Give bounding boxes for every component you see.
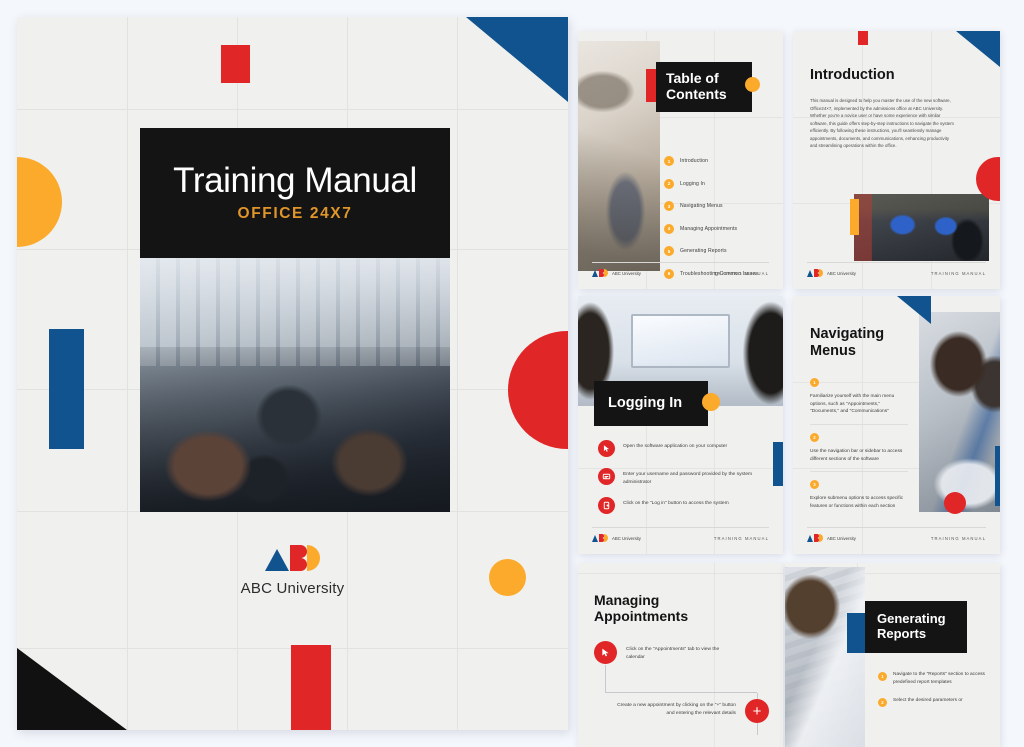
decor-blue-rectangle bbox=[773, 442, 783, 486]
numbered-item[interactable]: 2 Use the navigation bar or sidebar to a… bbox=[810, 433, 908, 472]
abc-logo-icon bbox=[807, 269, 823, 277]
numbered-item[interactable]: 1 Familiarize yourself with the main men… bbox=[810, 378, 908, 425]
cover-title-band: Training Manual OFFICE 24X7 bbox=[140, 128, 450, 258]
numbered-item-text: Familiarize yourself with the main menu … bbox=[810, 393, 908, 416]
toc-item-label: Logging In bbox=[680, 181, 705, 187]
plus-icon[interactable]: + bbox=[745, 699, 769, 723]
decor-blue-rectangle bbox=[995, 446, 1000, 506]
managing-appointments-title: Managing Appointments bbox=[594, 593, 688, 625]
page-logging-in[interactable]: Logging In Open the software application… bbox=[578, 296, 783, 554]
logo-a-triangle bbox=[265, 549, 289, 571]
toc-item-label: Introduction bbox=[680, 158, 708, 164]
grid-line bbox=[457, 17, 458, 730]
cover-title: Training Manual bbox=[173, 163, 417, 198]
page-managing-appointments[interactable]: Managing Appointments Click on the "Appo… bbox=[578, 563, 783, 747]
flow-arrow bbox=[757, 723, 758, 735]
footer-doc-label: TRAINING MANUAL bbox=[714, 271, 769, 276]
logging-in-steps: Open the software application on your co… bbox=[598, 440, 758, 525]
logo-b-shape bbox=[599, 534, 604, 542]
numbered-item-text: Explore submenu options to access specif… bbox=[810, 495, 908, 510]
toc-item[interactable]: 5 Generating Reports bbox=[664, 246, 776, 256]
logo-c-arc bbox=[604, 269, 608, 277]
toc-item-number: 2 bbox=[664, 179, 674, 189]
credentials-card-icon bbox=[598, 468, 615, 485]
decor-red-rectangle-top bbox=[858, 31, 868, 45]
page-introduction[interactable]: Introduction This manual is designed to … bbox=[793, 31, 1000, 289]
page-navigating-menus[interactable]: Navigating Menus 1 Familiarize yourself … bbox=[793, 296, 1000, 554]
step-item[interactable]: Enter your username and password provide… bbox=[598, 468, 758, 486]
toc-item[interactable]: 3 Navigating Menus bbox=[664, 201, 776, 211]
decor-red-half-circle-right bbox=[508, 331, 568, 449]
decor-orange-dot bbox=[702, 393, 720, 411]
numbered-item-badge: 2 bbox=[810, 433, 819, 442]
step-item[interactable]: Open the software application on your co… bbox=[598, 440, 758, 457]
generating-reports-title-band: Generating Reports bbox=[865, 601, 967, 653]
generating-reports-photo-student-writing bbox=[785, 567, 865, 747]
toc-item-label: Generating Reports bbox=[680, 248, 727, 254]
bullet-item[interactable]: 2 Select the desired parameters or bbox=[878, 697, 990, 707]
cover-university-name: ABC University bbox=[241, 580, 345, 597]
decor-blue-rectangle bbox=[847, 613, 865, 653]
footer-university: ABC University bbox=[827, 536, 856, 541]
step-text: Click on the "Log in" button to access t… bbox=[623, 497, 729, 508]
toc-item-number: 1 bbox=[664, 156, 674, 166]
navigating-menus-photo-students bbox=[919, 312, 1000, 512]
grid-line bbox=[578, 573, 783, 574]
decor-black-triangle-bottom bbox=[17, 648, 127, 730]
cover-photo-team-meeting bbox=[140, 246, 450, 512]
grid-line bbox=[127, 17, 128, 730]
logo-a-triangle bbox=[592, 535, 598, 542]
flow-step-text: Create a new appointment by clicking on … bbox=[616, 699, 736, 717]
cover-subtitle: OFFICE 24X7 bbox=[238, 205, 353, 223]
toc-item-label: Navigating Menus bbox=[680, 203, 723, 209]
appointments-flow: Click on the "Appointments" tab to view … bbox=[594, 641, 769, 731]
footer-doc-label: TRAINING MANUAL bbox=[931, 271, 986, 276]
decor-red-rectangle-bottom bbox=[291, 645, 331, 730]
grid-line bbox=[17, 109, 568, 110]
logo-b-shape bbox=[814, 269, 819, 277]
toc-item-number: 4 bbox=[664, 224, 674, 234]
footer-branding: ABC University bbox=[592, 534, 641, 542]
navigating-menus-title: Navigating Menus bbox=[810, 326, 884, 359]
toc-title: Table of Contents bbox=[666, 71, 727, 103]
cursor-click-icon bbox=[594, 641, 617, 664]
toc-item-number: 5 bbox=[664, 246, 674, 256]
logo-c-arc bbox=[307, 545, 320, 571]
numbered-item-badge: 1 bbox=[810, 378, 819, 387]
page-footer: ABC University TRAINING MANUAL bbox=[592, 262, 769, 277]
toc-item[interactable]: 2 Logging In bbox=[664, 179, 776, 189]
footer-university: ABC University bbox=[612, 271, 641, 276]
page-footer: ABC University TRAINING MANUAL bbox=[592, 527, 769, 542]
logo-a-triangle bbox=[592, 270, 598, 277]
step-item[interactable]: Click on the "Log in" button to access t… bbox=[598, 497, 758, 514]
logo-c-arc bbox=[819, 534, 823, 542]
footer-doc-label: TRAINING MANUAL bbox=[714, 536, 769, 541]
footer-doc-label: TRAINING MANUAL bbox=[931, 536, 986, 541]
bullet-item-badge: 1 bbox=[878, 672, 887, 681]
decor-red-rectangle-top bbox=[221, 45, 250, 83]
logging-in-title: Logging In bbox=[608, 395, 682, 411]
generating-reports-list: 1 Navigate to the "Reports" section to a… bbox=[878, 671, 990, 718]
page-table-of-contents[interactable]: Table of Contents 1 Introduction 2 Loggi… bbox=[578, 31, 783, 289]
decor-orange-rectangle bbox=[850, 199, 859, 235]
cover-branding: ABC University bbox=[17, 545, 568, 597]
footer-branding: ABC University bbox=[592, 269, 641, 277]
toc-item-label: Managing Appointments bbox=[680, 226, 737, 232]
toc-item[interactable]: 4 Managing Appointments bbox=[664, 224, 776, 234]
decor-blue-corner-triangle bbox=[956, 31, 1000, 67]
logo-c-arc bbox=[819, 269, 823, 277]
footer-branding: ABC University bbox=[807, 534, 856, 542]
abc-logo-icon bbox=[265, 545, 320, 571]
decor-red-circle bbox=[944, 492, 966, 514]
flow-connector bbox=[605, 665, 757, 693]
logo-c-arc bbox=[604, 534, 608, 542]
logo-b-shape bbox=[814, 534, 819, 542]
introduction-title: Introduction bbox=[810, 67, 895, 84]
step-text: Enter your username and password provide… bbox=[623, 468, 758, 486]
abc-logo-icon bbox=[592, 534, 608, 542]
introduction-photo-office-desks bbox=[854, 194, 989, 261]
bullet-item-text: Navigate to the "Reports" section to acc… bbox=[893, 671, 990, 686]
logo-a-triangle bbox=[807, 535, 813, 542]
numbered-item-badge: 3 bbox=[810, 480, 819, 489]
flow-step-text: Click on the "Appointments" tab to view … bbox=[626, 643, 736, 661]
footer-university: ABC University bbox=[612, 536, 641, 541]
footer-university: ABC University bbox=[827, 271, 856, 276]
logo-a-triangle bbox=[807, 270, 813, 277]
logo-b-shape bbox=[599, 269, 604, 277]
decor-blue-rectangle-left bbox=[49, 329, 84, 449]
bullet-item-badge: 2 bbox=[878, 698, 887, 707]
page-footer: ABC University TRAINING MANUAL bbox=[807, 527, 986, 542]
footer-branding: ABC University bbox=[807, 269, 856, 277]
step-text: Open the software application on your co… bbox=[623, 440, 727, 451]
logging-in-title-band: Logging In bbox=[594, 381, 708, 426]
page-footer: ABC University TRAINING MANUAL bbox=[807, 262, 986, 277]
decor-blue-corner-triangle bbox=[466, 17, 568, 102]
abc-logo-icon bbox=[807, 534, 823, 542]
cursor-click-icon bbox=[598, 440, 615, 457]
toc-item-number: 3 bbox=[664, 201, 674, 211]
numbered-item-text: Use the navigation bar or sidebar to acc… bbox=[810, 448, 908, 463]
decor-blue-corner-triangle bbox=[897, 296, 931, 324]
toc-item[interactable]: 1 Introduction bbox=[664, 156, 776, 166]
login-door-icon bbox=[598, 497, 615, 514]
bullet-item[interactable]: 1 Navigate to the "Reports" section to a… bbox=[878, 671, 990, 686]
navigating-menus-list: 1 Familiarize yourself with the main men… bbox=[810, 378, 908, 527]
logo-b-shape bbox=[290, 545, 307, 571]
generating-reports-title: Generating Reports bbox=[877, 612, 946, 641]
cover-page[interactable]: Training Manual OFFICE 24X7 ABC Universi… bbox=[17, 17, 568, 730]
numbered-item[interactable]: 3 Explore submenu options to access spec… bbox=[810, 480, 908, 518]
page-generating-reports[interactable]: Generating Reports 1 Navigate to the "Re… bbox=[785, 563, 1000, 747]
bullet-item-text: Select the desired parameters or bbox=[893, 697, 963, 707]
decor-orange-half-circle bbox=[17, 157, 62, 247]
introduction-body: This manual is designed to help you mast… bbox=[810, 97, 956, 150]
decor-orange-dot bbox=[745, 77, 760, 92]
abc-logo-icon bbox=[592, 269, 608, 277]
slide-deck-preview: Training Manual OFFICE 24X7 ABC Universi… bbox=[0, 0, 1024, 747]
toc-title-band: Table of Contents bbox=[656, 62, 752, 112]
